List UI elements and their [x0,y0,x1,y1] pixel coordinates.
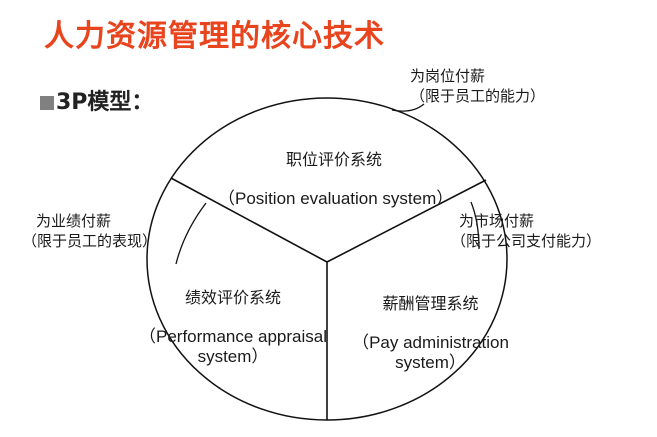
annotation-pay: 为市场付薪 （限于公司支付能力） [451,211,601,252]
segment-label-performance-en: （Performance appraisal system） [128,327,338,368]
annotation-performance-line1: 为业绩付薪 [22,211,157,231]
annotation-pay-line2: （限于公司支付能力） [451,231,601,251]
annotation-position-line2: （限于员工的能力） [410,86,545,106]
annotation-position: 为岗位付薪 （限于员工的能力） [410,66,545,107]
segment-label-position-cn: 职位评价系统 [218,150,450,170]
segment-label-pay-cn: 薪酬管理系统 [348,294,513,314]
annotation-position-line1: 为岗位付薪 [410,66,545,86]
slide-canvas: 人力资源管理的核心技术 3P模型： 职位评价系统 （Position evalu… [0,0,657,437]
segment-label-performance-cn: 绩效评价系统 [128,288,338,308]
annotation-performance-line2: （限于员工的表现） [22,231,157,251]
segment-label-pay: 薪酬管理系统 （Pay administration system） [348,274,513,394]
annotation-pay-line1: 为市场付薪 [451,211,601,231]
segment-label-position: 职位评价系统 （Position evaluation system） [218,130,450,229]
segment-label-pay-en: （Pay administration system） [348,333,513,374]
segment-label-performance: 绩效评价系统 （Performance appraisal system） [128,268,338,388]
segment-label-position-en: （Position evaluation system） [218,189,450,210]
leader-line-performance [176,203,206,264]
annotation-performance: 为业绩付薪 （限于员工的表现） [22,211,157,252]
